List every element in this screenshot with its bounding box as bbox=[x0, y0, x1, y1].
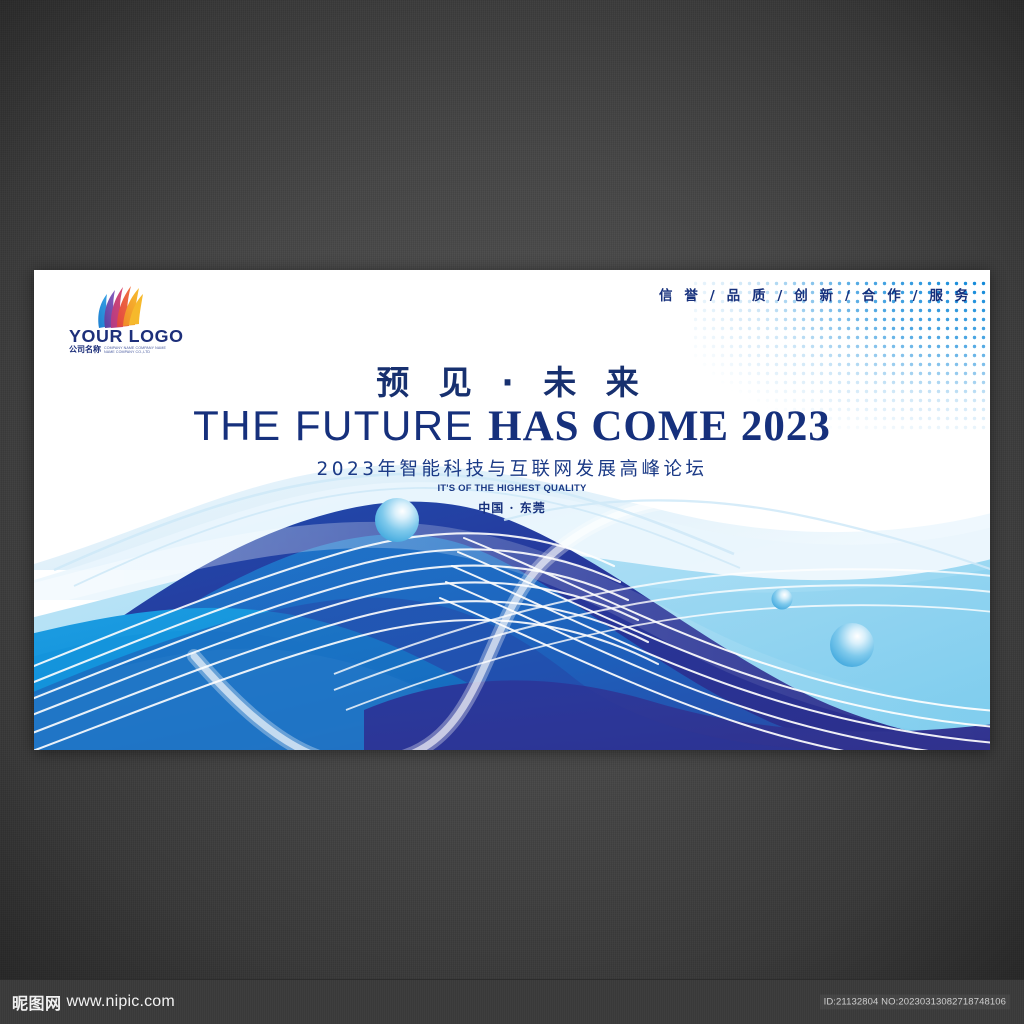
poster-artboard: YOUR LOGO 公司名称 COMPANY NAME COMPANY NAME… bbox=[34, 270, 990, 750]
main-title-en-light: THE FUTURE bbox=[193, 402, 474, 449]
main-title-cn: 预 见 · 未 来 bbox=[34, 366, 990, 401]
site-brand: 昵图网 www.nipic.com bbox=[12, 990, 175, 1014]
sphere-small-right bbox=[772, 589, 793, 610]
screenshot-canvas: YOUR LOGO 公司名称 COMPANY NAME COMPANY NAME… bbox=[0, 0, 1024, 1024]
location-text: 中国 · 东莞 bbox=[34, 499, 990, 516]
subtitle-cn: 2023年智能科技与互联网发展高峰论坛 bbox=[34, 455, 990, 481]
watermark-footer-bar: 昵图网 www.nipic.com ID:21132804 NO:2023031… bbox=[0, 979, 1024, 1024]
asset-id-label: ID:21132804 NO:20230313082718748106 bbox=[820, 995, 1010, 1010]
flame-ribbon-logo-icon bbox=[85, 282, 149, 330]
brand-name-cn: 昵图网 bbox=[12, 990, 62, 1014]
logo-company-cn: 公司名称 bbox=[69, 346, 101, 354]
title-block: 预 见 · 未 来 THE FUTUREHAS COME 2023 2023年智… bbox=[34, 366, 990, 516]
logo-subtext: 公司名称 COMPANY NAME COMPANY NAME NAME COMP… bbox=[69, 346, 181, 355]
logo-block: YOUR LOGO 公司名称 COMPANY NAME COMPANY NAME… bbox=[69, 282, 179, 358]
main-title-en-bold: HAS COME 2023 bbox=[488, 403, 831, 450]
sphere-large-right bbox=[830, 623, 874, 667]
brand-url: www.nipic.com bbox=[67, 993, 175, 1011]
logo-wordmark: YOUR LOGO bbox=[69, 328, 181, 346]
logo-company-en: COMPANY NAME COMPANY NAME NAME COMPANY C… bbox=[104, 346, 174, 355]
slogan-text: 信 誉 / 品 质 / 创 新 / 合 作 / 服 务 bbox=[659, 284, 972, 304]
subtitle-en: IT'S OF THE HIGHEST QUALITY bbox=[34, 483, 990, 494]
main-title-en: THE FUTUREHAS COME 2023 bbox=[34, 405, 990, 448]
